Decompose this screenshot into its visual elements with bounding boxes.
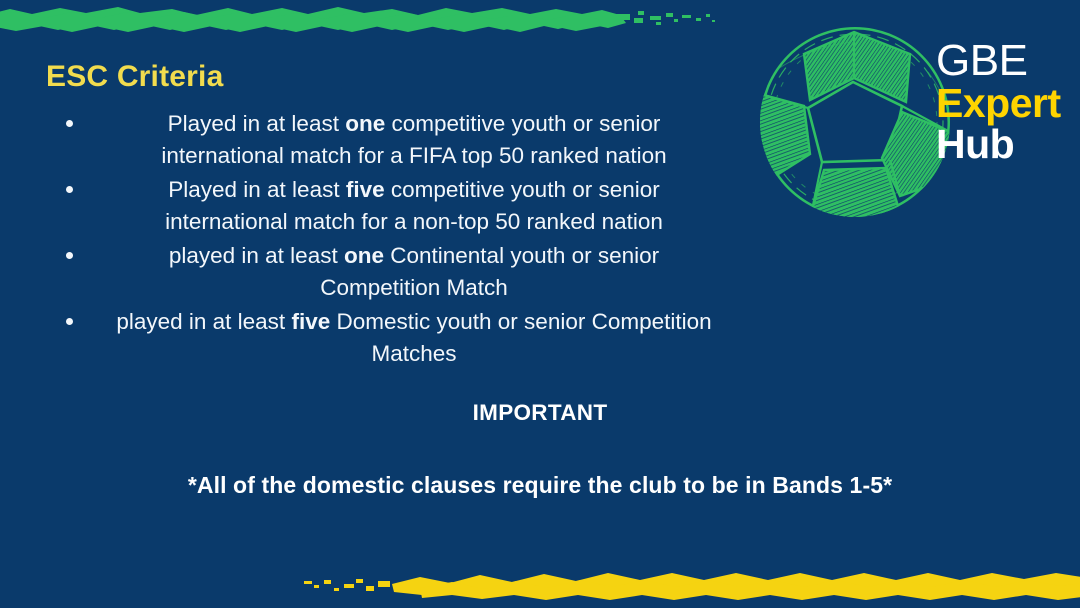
logo-line-hub: Hub [936,125,1080,164]
green-brush-stroke [0,4,720,38]
criteria-text-3: played in at least five Domestic youth o… [116,309,711,366]
bullet-icon [66,120,73,127]
slide-canvas: GBE Expert Hub ESC Criteria Played in at… [0,0,1080,608]
important-note: *All of the domestic clauses require the… [0,472,1080,499]
criteria-list: Played in at least one competitive youth… [46,108,718,372]
criteria-text-1: Played in at least five competitive yout… [165,177,663,234]
football-ball-icon [750,20,960,225]
logo-line-gbe: GBE [936,40,1080,82]
list-item: played in at least one Continental youth… [46,240,718,304]
criteria-text-2: played in at least one Continental youth… [169,243,659,300]
list-item: Played in at least five competitive yout… [46,174,718,238]
logo-wordmark: GBE Expert Hub [936,40,1080,164]
bullet-icon [66,318,73,325]
list-item: played in at least five Domestic youth o… [46,306,718,370]
criteria-text-0: Played in at least one competitive youth… [161,111,666,168]
yellow-brush-stroke [300,562,1080,602]
logo-line-expert: Expert [936,84,1080,123]
brand-logo: GBE Expert Hub [746,14,1076,234]
important-heading: IMPORTANT [0,400,1080,426]
bullet-icon [66,186,73,193]
list-item: Played in at least one competitive youth… [46,108,718,172]
bullet-icon [66,252,73,259]
page-title: ESC Criteria [46,60,223,94]
